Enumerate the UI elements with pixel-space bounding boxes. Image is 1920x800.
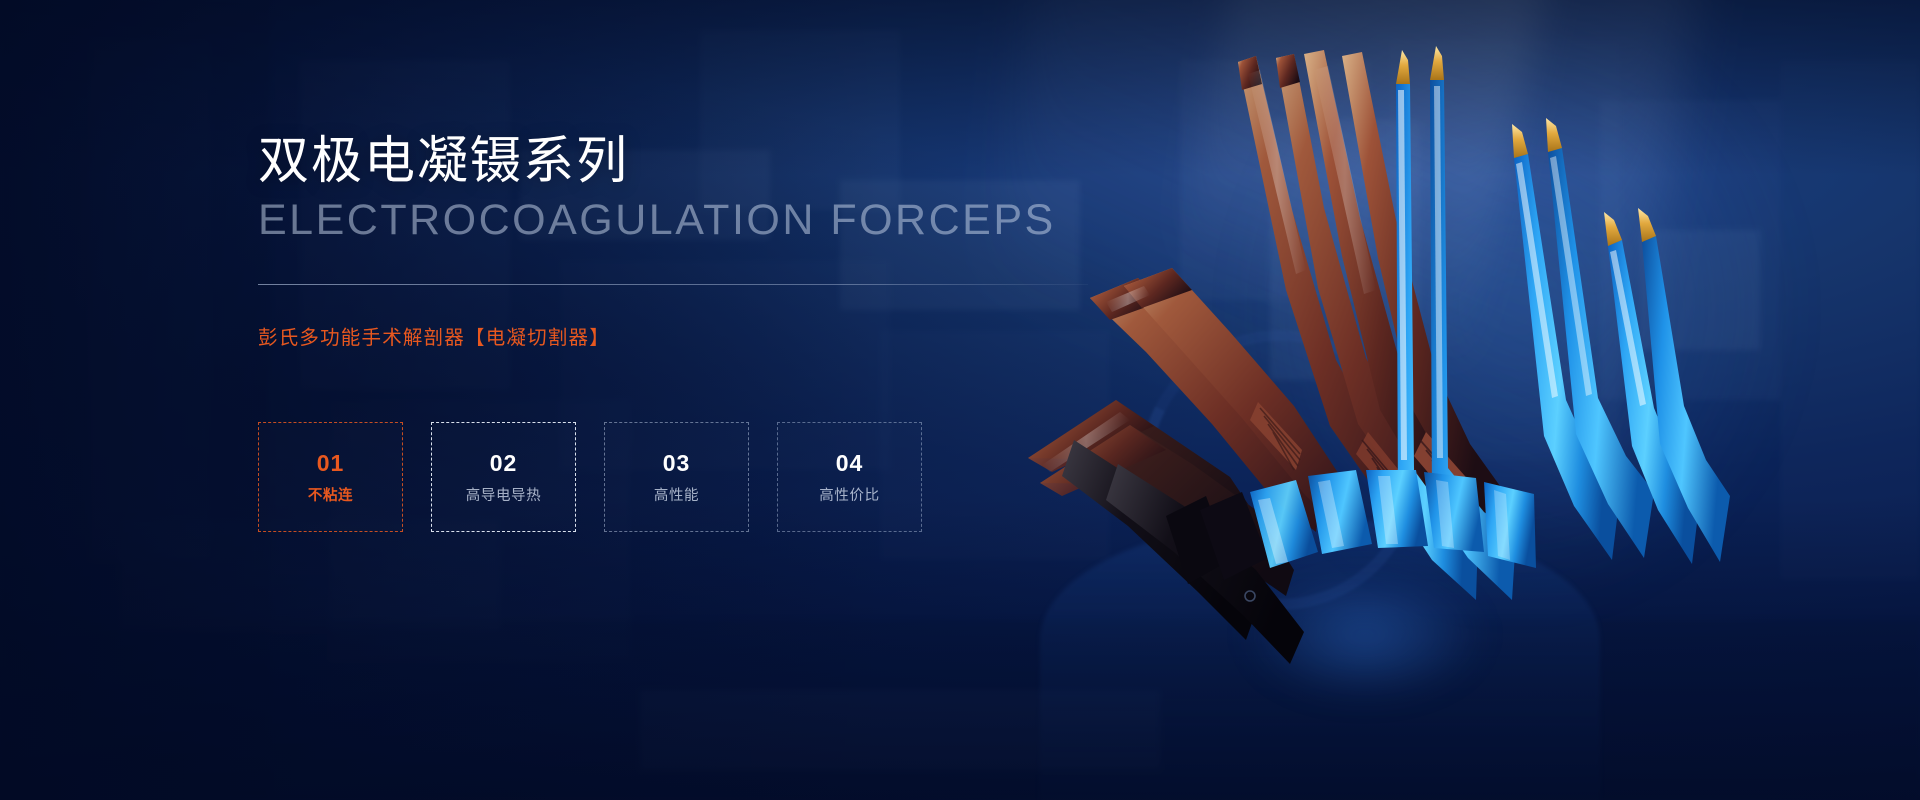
forceps-gold-tip [1638,208,1656,242]
page-title-en: ELECTROCOAGULATION FORCEPS [258,197,1118,244]
product-tagline: 彭氏多功能手术解剖器【电凝切割器】 [258,321,1118,350]
forceps-gold-tip [1430,46,1444,80]
feature-number: 02 [490,452,518,475]
feature-label: 不粘连 [308,489,353,504]
banner-stage: 双极电凝镊系列 ELECTROCOAGULATION FORCEPS 彭氏多功能… [0,0,1920,800]
banner-content: 双极电凝镊系列 ELECTROCOAGULATION FORCEPS 彭氏多功能… [258,132,1118,532]
feature-card-03[interactable]: 03 高性能 [604,422,749,532]
feature-list: 01 不粘连 02 高导电导热 03 高性能 04 高性价比 [258,422,1118,532]
feature-card-01[interactable]: 01 不粘连 [258,422,403,532]
feature-number: 04 [836,452,864,475]
forceps-gold-tip [1604,212,1622,246]
feature-card-02[interactable]: 02 高导电导热 [431,422,576,532]
product-image-forceps [1080,40,1680,700]
forceps-gold-tip [1546,118,1562,152]
divider [258,284,1088,285]
feature-number: 01 [317,452,345,475]
feature-label: 高性价比 [819,489,879,504]
page-title-cn: 双极电凝镊系列 [258,132,1118,189]
feature-number: 03 [663,452,691,475]
forceps-illustration [1080,40,1680,700]
feature-label: 高性能 [654,489,699,504]
feature-card-04[interactable]: 04 高性价比 [777,422,922,532]
forceps-gold-tip [1396,50,1410,84]
feature-label: 高导电导热 [466,489,542,504]
forceps-gold-tip [1512,124,1528,158]
